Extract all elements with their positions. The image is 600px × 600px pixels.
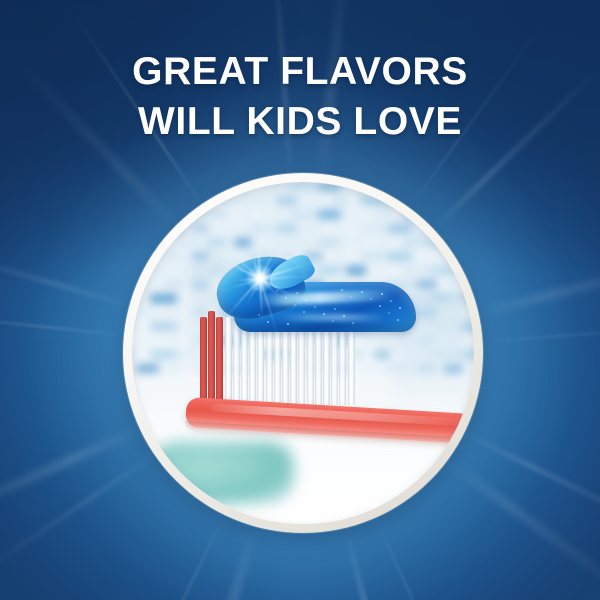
gel-speck [323, 313, 325, 315]
gel-speck [370, 298, 372, 300]
gel-speck [334, 308, 336, 310]
gel-speck [294, 304, 296, 306]
page-title: GREAT FLAVORS WILL KIDS LOVE [0, 47, 600, 147]
gel-speck [287, 323, 289, 325]
bristle-accent [208, 311, 215, 405]
gel-speck [390, 300, 392, 302]
gel-speck [303, 311, 305, 313]
gel-speck [305, 299, 307, 301]
product-photo [132, 182, 474, 524]
gel-highlight-lower [276, 314, 386, 321]
gel-speck [314, 306, 316, 308]
gel-speck [341, 289, 343, 291]
gel-speck [350, 296, 352, 298]
gel-speck [285, 297, 287, 299]
gel-speck [258, 314, 260, 316]
gel-speck [361, 291, 363, 293]
gel-speck [379, 305, 381, 307]
gel-speck [332, 320, 334, 322]
gel-speck [381, 293, 383, 295]
gel-speck [343, 315, 345, 317]
gel-speck [296, 292, 298, 294]
handle-shadow [185, 421, 474, 448]
toothbrush [132, 182, 474, 524]
bristle-accent [200, 317, 207, 405]
gel-speck [397, 319, 399, 321]
toothpaste-gel [216, 258, 416, 332]
product-photo-frame [123, 173, 483, 533]
gel-speck [399, 307, 401, 309]
gel-speck [352, 322, 354, 324]
advertisement-banner: GREAT FLAVORS WILL KIDS LOVE [0, 0, 600, 600]
handle-gloss [210, 403, 462, 426]
gel-speck [267, 321, 269, 323]
gel-speck [388, 312, 390, 314]
